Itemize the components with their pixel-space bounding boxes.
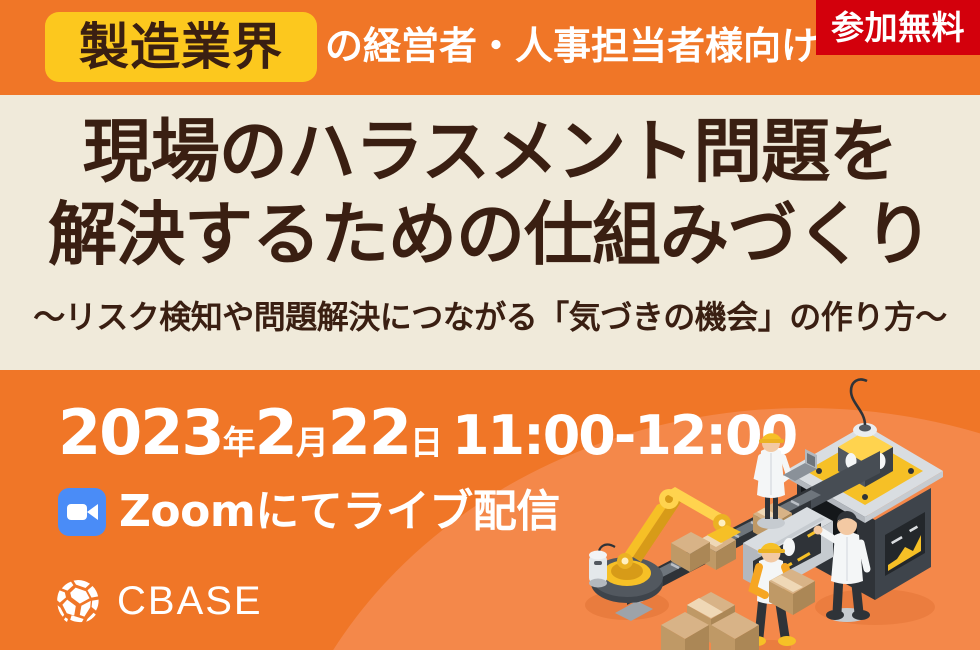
brand-name-label: CBASE: [117, 581, 263, 621]
zoom-camera-icon: [58, 488, 106, 536]
cardboard-box-stack: [661, 592, 759, 650]
event-month-unit: 月: [296, 423, 328, 462]
audience-target-text: の経営者・人事担当者様向け: [325, 26, 819, 68]
webinar-banner: 製造業界 の経営者・人事担当者様向け 参加無料 現場のハラスメント問題を 解決す…: [0, 0, 980, 650]
event-year: 2023: [58, 396, 223, 469]
free-badge-label: 参加無料: [831, 11, 965, 44]
event-month: 2: [255, 396, 296, 469]
page-title-line-1: 現場のハラスメント問題を: [0, 115, 980, 190]
delivery-method-label: Zoomにてライブ配信: [119, 490, 560, 534]
brand-logo-row: CBASE: [55, 578, 263, 624]
industry-tag-label: 製造業界: [79, 22, 283, 72]
globe-icon: [55, 578, 101, 624]
page-title-line-2: 解決するための仕組みづくり: [0, 198, 980, 273]
free-participation-badge: 参加無料: [816, 0, 980, 55]
industry-tag-badge: 製造業界: [45, 12, 317, 82]
page-subtitle: 〜リスク検知や問題解決につながる「気づきの機会」の作り方〜: [0, 300, 980, 335]
camera-lens-shape: [87, 504, 98, 520]
header-strip: 製造業界 の経営者・人事担当者様向け 参加無料: [0, 0, 980, 95]
event-year-unit: 年: [223, 423, 255, 462]
camera-body-shape: [67, 504, 87, 520]
event-day: 22: [328, 396, 410, 469]
isometric-factory-illustration: [575, 375, 980, 650]
title-band: 現場のハラスメント問題を 解決するための仕組みづくり 〜リスク検知や問題解決につ…: [0, 95, 980, 370]
event-day-unit: 日: [410, 423, 442, 462]
delivery-method-row: Zoomにてライブ配信: [58, 488, 560, 536]
